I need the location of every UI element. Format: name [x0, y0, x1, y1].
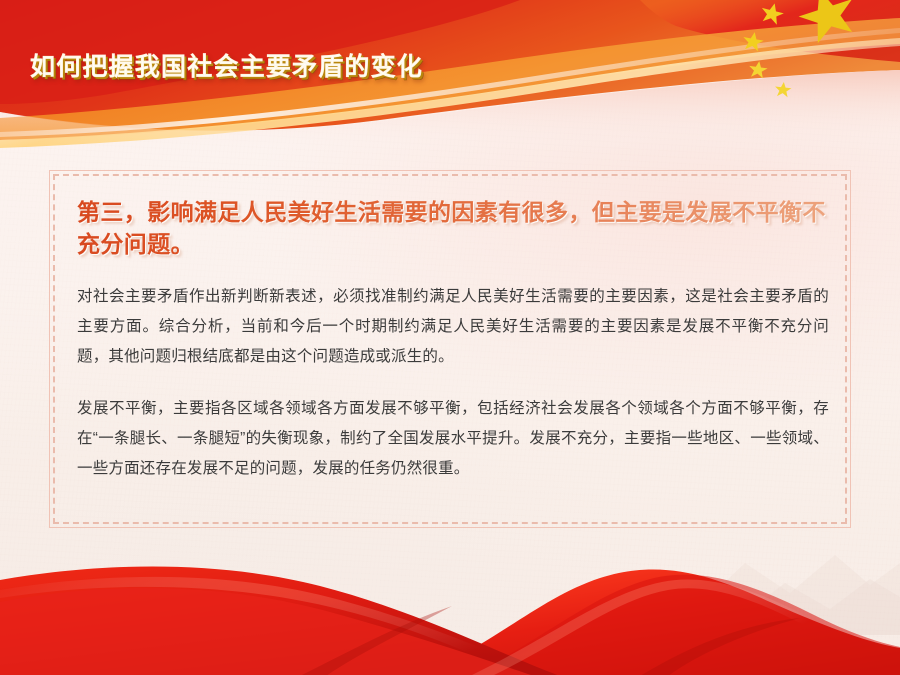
header-banner: 如何把握我国社会主要矛盾的变化 [0, 0, 900, 150]
paragraph-2: 发展不平衡，主要指各区域各领域各方面发展不够平衡，包括经济社会发展各个领域各个方… [77, 394, 829, 484]
slide-canvas: 如何把握我国社会主要矛盾的变化 第三，影响满足人民美好生活需要的因素有很多，但主… [0, 0, 900, 675]
paragraph-1: 对社会主要矛盾作出新判断新表述，必须找准制约满足人民美好生活需要的主要因素，这是… [77, 282, 829, 372]
content-body: 第三，影响满足人民美好生活需要的因素有很多，但主要是发展不平衡不充分问题。 对社… [77, 196, 829, 484]
section-heading: 第三，影响满足人民美好生活需要的因素有很多，但主要是发展不平衡不充分问题。 [77, 196, 829, 260]
footer-ribbon-art [0, 520, 900, 675]
page-title: 如何把握我国社会主要矛盾的变化 [30, 52, 423, 82]
footer-ribbon: 共产党员网 WWW.12371.CN [0, 520, 900, 675]
